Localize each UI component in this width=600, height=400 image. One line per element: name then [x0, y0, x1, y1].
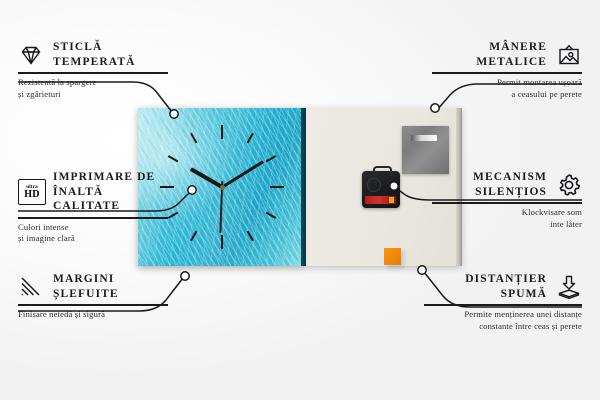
callout-title-line1: MECANISM	[473, 170, 547, 185]
callout-title-line1: MARGINI	[53, 272, 119, 287]
callout-desc-line1: Klockvisare som	[432, 207, 582, 219]
clock-center-pin	[220, 185, 225, 190]
infographic-canvas: STICLĂ TEMPERATĂ Rezistentă la spargere …	[0, 0, 600, 400]
callout-rule	[432, 202, 582, 203]
battery-terminal	[389, 197, 394, 203]
movement-knob	[367, 178, 381, 192]
callout-title-line1: DISTANȚIER	[465, 272, 547, 287]
callout-title-line1: MÂNERE	[476, 40, 547, 55]
callout-desc-line2: și zgârieturi	[18, 89, 168, 101]
callout-title-line2: METALICE	[476, 55, 547, 70]
product-image	[138, 108, 462, 268]
callout-desc-line2: inte låter	[432, 219, 582, 231]
callout-rule	[18, 217, 168, 218]
callout-silent-mechanism: MECANISM SILENȚIOS Klockvisare som inte …	[432, 170, 582, 230]
callout-title-line2: ÎNALTĂ CALITATE	[53, 185, 168, 214]
polished-edge-icon	[18, 274, 44, 300]
callout-polished-edges: MARGINI ȘLEFUITE Finisare netedă și sigu…	[18, 272, 168, 321]
callout-rule	[18, 72, 168, 73]
leader-dot-edges	[181, 272, 189, 280]
hanger-loop	[373, 166, 392, 176]
callout-desc-line1: Rezistentă la spargere	[18, 77, 168, 89]
ultra-hd-icon-main-label: HD	[24, 190, 40, 200]
diamond-icon	[18, 42, 44, 68]
clock-tick	[160, 186, 222, 188]
callout-desc-line1: Finisare netedă și sigură	[18, 309, 168, 321]
callout-desc-line1: Permite menținerea unei distanțe	[424, 309, 582, 321]
callout-rule	[432, 72, 582, 73]
callout-tempered-glass: STICLĂ TEMPERATĂ Rezistentă la spargere …	[18, 40, 168, 100]
callout-foam-spacer: DISTANȚIER SPUMĂ Permite menținerea unei…	[424, 272, 582, 332]
clock-tick	[222, 186, 284, 188]
picture-hanger-icon	[556, 42, 582, 68]
callout-desc-line1: Permit montarea ușoară	[432, 77, 582, 89]
callout-rule	[18, 304, 168, 305]
press-down-pad-icon	[556, 274, 582, 300]
clock-tick	[221, 125, 223, 187]
ultra-hd-icon: ultra HD	[18, 179, 44, 205]
callout-title-line1: IMPRIMARE DE	[53, 170, 168, 185]
callout-title-line2: SILENȚIOS	[473, 185, 547, 200]
callout-desc-line2: a ceasului pe perete	[432, 89, 582, 101]
hanger-slot	[411, 135, 437, 141]
callout-high-quality-print: ultra HD IMPRIMARE DE ÎNALTĂ CALITATE Cu…	[18, 170, 168, 245]
clock-movement	[362, 171, 400, 208]
callout-title-line2: ȘLEFUITE	[53, 287, 119, 302]
callout-title-line2: TEMPERATĂ	[53, 55, 136, 70]
foam-spacer	[384, 248, 401, 265]
callout-desc-line2: constante între ceas și perete	[424, 321, 582, 333]
callout-desc-line2: și imagine clară	[18, 233, 168, 245]
callout-title-line1: STICLĂ	[53, 40, 136, 55]
callout-rule	[424, 304, 582, 305]
callout-desc-line1: Culori intense	[18, 222, 168, 234]
callout-metal-handles: MÂNERE METALICE Permit montarea ușoară a…	[432, 40, 582, 100]
clock-tick	[168, 186, 223, 219]
callout-title-line2: SPUMĂ	[465, 287, 547, 302]
metal-hanger-plate	[402, 126, 449, 174]
gear-icon	[556, 172, 582, 198]
battery	[365, 196, 396, 204]
